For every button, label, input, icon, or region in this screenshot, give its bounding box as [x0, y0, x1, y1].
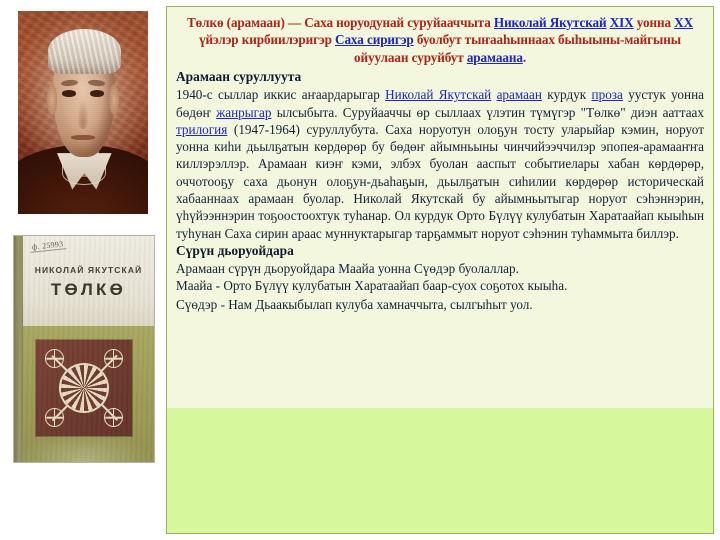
- portrait-mouth: [71, 135, 94, 140]
- heroes-line-1: Маайа - Орто Бүлүү кулубатын Харатаайап …: [176, 277, 704, 295]
- ornament-wheel: [45, 408, 64, 427]
- portrait-ear-left: [47, 84, 57, 114]
- ornament-sun-medallion: [61, 365, 107, 411]
- inline-link[interactable]: арамаан: [497, 87, 542, 102]
- heroes-line-0: Арамаан сүрүн дьоруойдара Маайа уонна Сү…: [176, 260, 704, 278]
- inline-link[interactable]: трилогия: [176, 122, 227, 137]
- inline-link[interactable]: жанрыгар: [216, 105, 271, 120]
- book-cover-title: ТӨЛКӨ: [23, 280, 154, 300]
- inline-link[interactable]: XIX: [610, 15, 634, 30]
- portrait-nose: [77, 100, 89, 128]
- image-column: ф. 25993 НИКОЛАЙ ЯКУТСКАЙ ТӨЛКӨ: [0, 0, 166, 540]
- book-cover-ornament: [36, 340, 132, 436]
- ornament-wheel: [104, 408, 123, 427]
- book-spine: [14, 236, 23, 462]
- inline-link[interactable]: Николай Якутскай: [494, 15, 607, 30]
- text-content-panel: Төлкө (арамаан) — Саха норуодунай суруйа…: [166, 6, 714, 534]
- panel-lower-background: [167, 408, 713, 533]
- author-portrait-photo: [18, 11, 148, 214]
- heroes-line-2: Сүөдэр - Нам Дьаакыбылап кулуба хамначчы…: [176, 296, 704, 314]
- ornament-wheel: [45, 349, 64, 368]
- book-cover-author: НИКОЛАЙ ЯКУТСКАЙ: [23, 265, 154, 275]
- inline-link[interactable]: Николай Якутскай: [385, 87, 491, 102]
- section-paragraph-novel-writing: 1940-с сыллар иккис аҥаардарыгар Николай…: [176, 86, 704, 242]
- ornament-wheel: [104, 349, 123, 368]
- inline-link[interactable]: арамаана: [467, 50, 523, 65]
- panel-inner: Төлкө (арамаан) — Саха норуодунай суруйа…: [167, 7, 713, 314]
- inline-link[interactable]: XX: [674, 15, 693, 30]
- section-heading-novel-writing: Арамаан суруллуута: [176, 69, 704, 85]
- inline-link[interactable]: проза: [592, 87, 623, 102]
- portrait-hair: [48, 29, 121, 74]
- lede-paragraph: Төлкө (арамаан) — Саха норуодунай суруйа…: [176, 14, 704, 66]
- portrait-eye-left: [62, 90, 76, 96]
- slide-root: ф. 25993 НИКОЛАЙ ЯКУТСКАЙ ТӨЛКӨ Төлкө (а…: [0, 0, 720, 540]
- inline-link[interactable]: Саха сиригэр: [335, 32, 414, 47]
- portrait-necklace-chain: [62, 161, 106, 184]
- portrait-eye-right: [90, 90, 104, 96]
- section-heading-main-characters: Сүрүн дьоруойдара: [176, 243, 704, 259]
- book-cover-image: ф. 25993 НИКОЛАЙ ЯКУТСКАЙ ТӨЛКӨ: [14, 236, 154, 462]
